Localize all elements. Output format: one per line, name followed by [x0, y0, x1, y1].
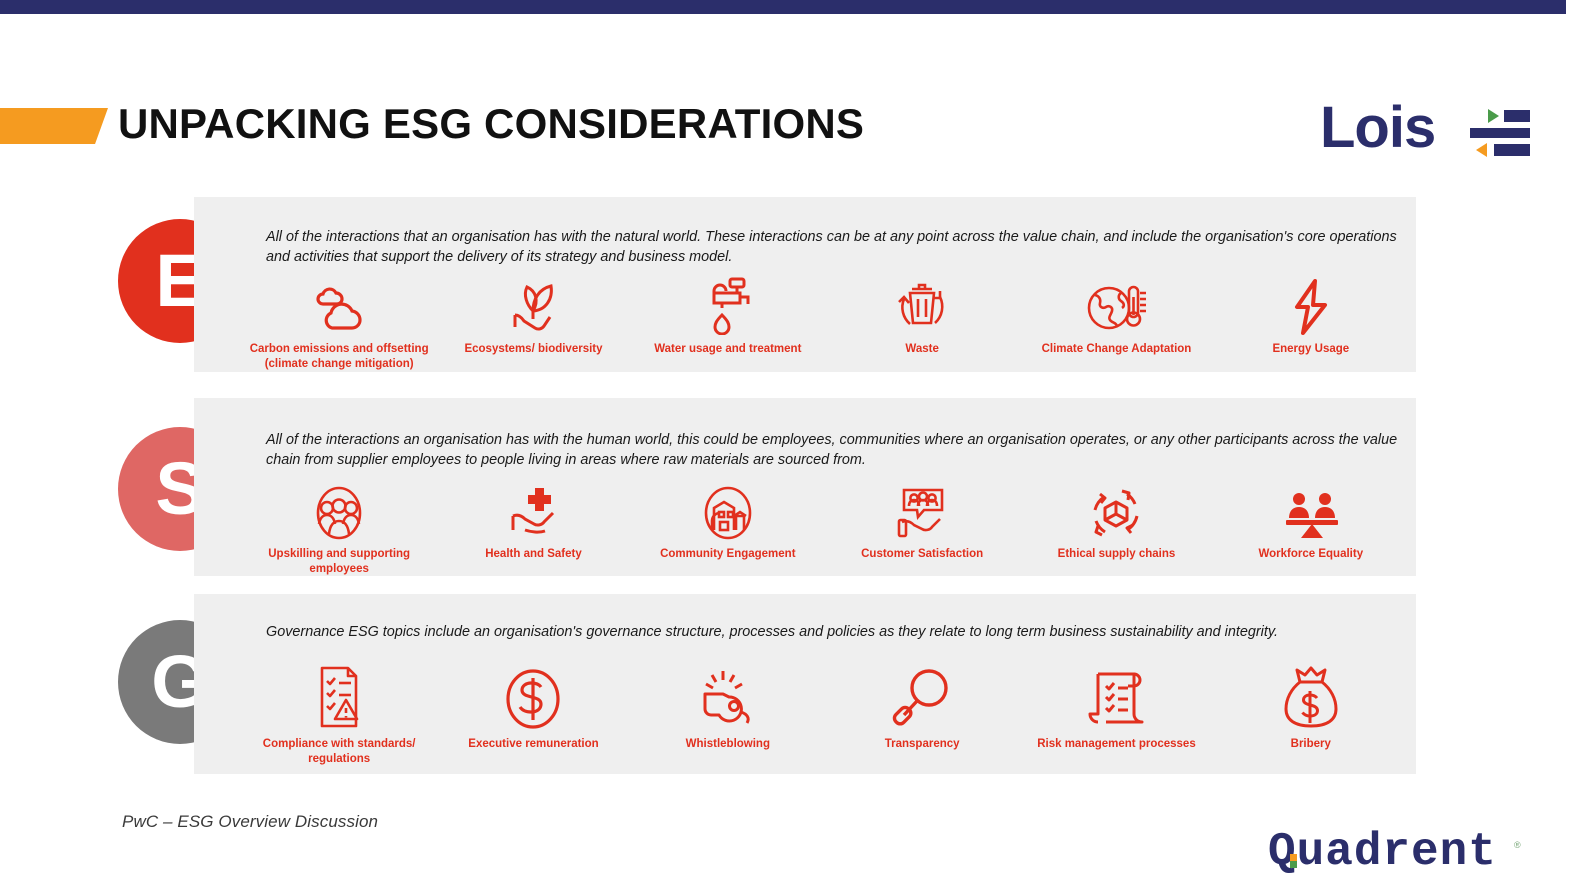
section-description: Governance ESG topics include an organis…	[266, 622, 1402, 642]
customer-feedback-hand-icon	[894, 480, 950, 540]
esg-item-label: Ethical supply chains	[1058, 547, 1176, 562]
esg-item-label: Bribery	[1291, 737, 1331, 752]
box-circular-arrows-icon	[1087, 480, 1145, 540]
hand-medical-cross-icon	[505, 480, 561, 540]
section-items: Compliance with standards/ regulations E…	[242, 656, 1408, 766]
esg-item-label: Health and Safety	[485, 547, 582, 562]
quadrent-logo: Quadrent ®	[1268, 832, 1526, 876]
section-items: Upskilling and supporting employees Heal…	[242, 480, 1408, 576]
dollar-circle-icon	[504, 656, 562, 730]
orange-accent-tab	[0, 108, 108, 144]
scroll-checklist-icon	[1086, 656, 1146, 730]
page-title: UNPACKING ESG CONSIDERATIONS	[118, 100, 864, 148]
money-bag-icon	[1282, 656, 1340, 730]
clouds-icon	[307, 275, 371, 335]
esg-item-community-engagement[interactable]: Community Engagement	[631, 480, 825, 576]
esg-item-label: Upskilling and supporting employees	[249, 547, 429, 576]
esg-item-water-usage[interactable]: Water usage and treatment	[631, 275, 825, 371]
esg-item-health-and-safety[interactable]: Health and Safety	[436, 480, 630, 576]
esg-item-label: Workforce Equality	[1259, 547, 1364, 562]
quadrent-logo-text: Quadrent	[1268, 826, 1497, 878]
esg-item-bribery[interactable]: Bribery	[1214, 656, 1408, 766]
esg-item-ethical-supply-chains[interactable]: Ethical supply chains	[1019, 480, 1213, 576]
esg-item-label: Water usage and treatment	[654, 342, 801, 357]
esg-item-label: Climate Change Adaptation	[1042, 342, 1192, 357]
esg-item-customer-satisfaction[interactable]: Customer Satisfaction	[825, 480, 1019, 576]
esg-item-label: Compliance with standards/ regulations	[249, 737, 429, 766]
magnifying-glass-icon	[891, 656, 953, 730]
esg-item-workforce-equality[interactable]: Workforce Equality	[1214, 480, 1408, 576]
orange-square-icon	[1290, 854, 1297, 861]
esg-item-label: Whistleblowing	[686, 737, 770, 752]
esg-item-transparency[interactable]: Transparency	[825, 656, 1019, 766]
esg-item-label: Transparency	[885, 737, 960, 752]
waste-recycle-bin-icon	[894, 275, 950, 335]
tap-water-drop-icon	[700, 275, 756, 335]
whistle-icon	[697, 656, 759, 730]
green-square-icon	[1290, 861, 1297, 868]
esg-item-carbon-emissions[interactable]: Carbon emissions and offsetting (climate…	[242, 275, 436, 371]
esg-item-label: Carbon emissions and offsetting (climate…	[249, 342, 429, 371]
checklist-warning-icon	[312, 656, 366, 730]
people-group-icon	[311, 480, 367, 540]
balance-people-icon	[1281, 480, 1341, 540]
esg-section-social: All of the interactions an organisation …	[194, 398, 1416, 576]
registered-mark: ®	[1514, 840, 1521, 850]
esg-item-whistleblowing[interactable]: Whistleblowing	[631, 656, 825, 766]
section-description: All of the interactions an organisation …	[266, 430, 1402, 471]
esg-item-label: Energy Usage	[1272, 342, 1349, 357]
lois-logo: Lois	[1320, 98, 1530, 160]
esg-item-compliance-standards[interactable]: Compliance with standards/ regulations	[242, 656, 436, 766]
esg-item-executive-remuneration[interactable]: Executive remuneration	[436, 656, 630, 766]
lois-logo-text: Lois	[1320, 94, 1435, 161]
esg-item-label: Executive remuneration	[468, 737, 598, 752]
community-buildings-icon	[700, 480, 756, 540]
esg-item-label: Risk management processes	[1037, 737, 1196, 752]
esg-item-label: Ecosystems/ biodiversity	[464, 342, 602, 357]
esg-item-energy-usage[interactable]: Energy Usage	[1214, 275, 1408, 371]
esg-item-label: Community Engagement	[660, 547, 795, 562]
globe-thermometer-icon	[1085, 275, 1147, 335]
green-triangle-icon	[1488, 109, 1499, 123]
esg-item-label: Customer Satisfaction	[861, 547, 983, 562]
orange-triangle-icon	[1476, 143, 1487, 157]
section-description: All of the interactions that an organisa…	[266, 227, 1402, 268]
top-accent-bar	[0, 0, 1566, 14]
esg-item-risk-management[interactable]: Risk management processes	[1019, 656, 1213, 766]
esg-item-label: Waste	[905, 342, 938, 357]
esg-item-climate-change-adaptation[interactable]: Climate Change Adaptation	[1019, 275, 1213, 371]
footer-note: PwC – ESG Overview Discussion	[122, 812, 378, 832]
lightning-bolt-icon	[1289, 275, 1333, 335]
esg-item-upskilling-employees[interactable]: Upskilling and supporting employees	[242, 480, 436, 576]
plant-in-hand-icon	[505, 275, 561, 335]
lois-logo-mark-icon	[1470, 106, 1532, 158]
esg-item-ecosystems-biodiversity[interactable]: Ecosystems/ biodiversity	[436, 275, 630, 371]
esg-section-environmental: All of the interactions that an organisa…	[194, 197, 1416, 372]
section-items: Carbon emissions and offsetting (climate…	[242, 275, 1408, 371]
esg-section-governance: Governance ESG topics include an organis…	[194, 594, 1416, 774]
esg-item-waste[interactable]: Waste	[825, 275, 1019, 371]
